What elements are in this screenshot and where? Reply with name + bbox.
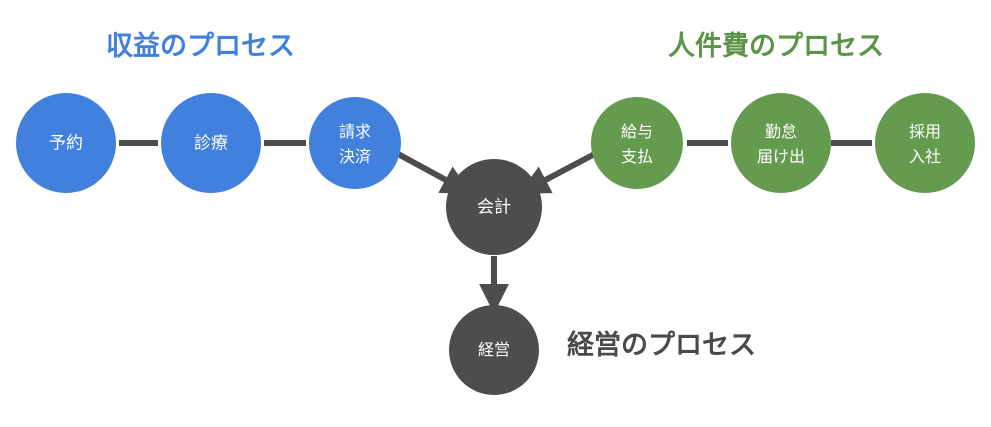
section-title-revenue: 収益のプロセス [106,33,295,60]
node-recruit-onboarding-circle[interactable] [875,93,975,193]
node-accounting-label: 会計 [477,197,511,216]
process-flow-diagram: 予約 診療 請求 決済 給与 支払 勤怠 届け出 採用 入社 [0,0,991,427]
node-billing-payment[interactable]: 請求 決済 [309,97,401,189]
section-title-labor: 人件費のプロセス [668,33,884,60]
node-management-label: 経営 [478,341,510,359]
node-reservation-label: 予約 [49,133,83,152]
node-salary-payment-label-line1: 給与 [621,123,653,141]
node-salary-payment-label-line2: 支払 [621,148,653,166]
node-billing-payment-label-line2: 決済 [339,148,371,166]
node-treatment[interactable]: 診療 [161,93,261,193]
node-billing-payment-circle[interactable] [309,97,401,189]
node-management[interactable]: 経営 [449,305,539,395]
node-recruit-onboarding-label-line1: 採用 [909,123,941,141]
node-reservation[interactable]: 予約 [16,93,116,193]
node-recruit-onboarding-label-line2: 入社 [909,148,941,166]
section-title-management: 経営のプロセス [567,332,756,359]
diagram-canvas: 予約 診療 請求 決済 給与 支払 勤怠 届け出 採用 入社 [0,0,991,427]
node-accounting[interactable]: 会計 [446,159,542,255]
node-billing-payment-label-line1: 請求 [339,123,371,141]
node-attendance-notification-label-line2: 届け出 [757,148,805,166]
node-attendance-notification[interactable]: 勤怠 届け出 [731,93,831,193]
node-attendance-notification-label-line1: 勤怠 [765,123,797,141]
node-treatment-label: 診療 [194,133,228,152]
node-salary-payment-circle[interactable] [591,97,683,189]
node-salary-payment[interactable]: 給与 支払 [591,97,683,189]
node-attendance-notification-circle[interactable] [731,93,831,193]
node-recruit-onboarding[interactable]: 採用 入社 [875,93,975,193]
